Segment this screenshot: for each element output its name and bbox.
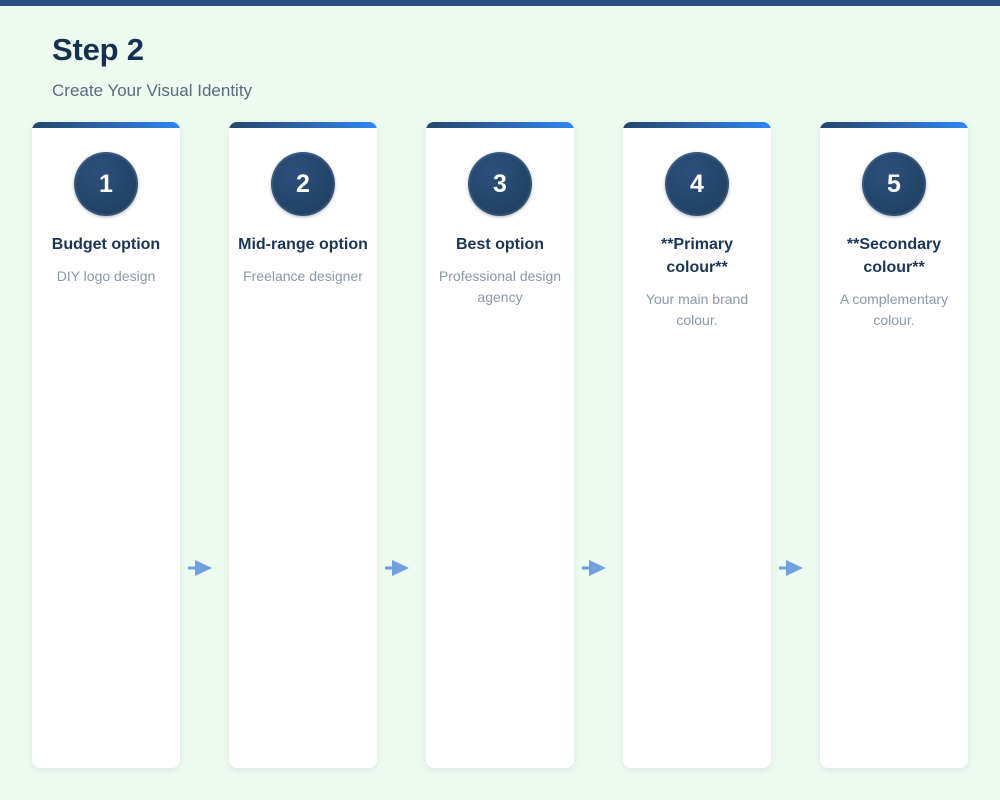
card-description: DIY logo design: [44, 266, 168, 287]
step-number: 4: [690, 172, 704, 197]
arrow-right-icon: [385, 557, 417, 579]
flow-card-2[interactable]: 2 Mid-range option Freelance designer: [229, 122, 377, 768]
card-description: Your main brand colour.: [635, 289, 759, 331]
step-badge: 2: [271, 152, 335, 216]
page-header: Step 2 Create Your Visual Identity: [52, 30, 252, 103]
page-subtitle: Create Your Visual Identity: [52, 79, 252, 103]
card-title: Mid-range option: [237, 233, 369, 256]
card-accent-bar: [820, 122, 968, 128]
page-title: Step 2: [52, 30, 252, 70]
step-number: 3: [493, 172, 507, 197]
card-accent-bar: [426, 122, 574, 128]
card-title: Budget option: [40, 233, 172, 256]
card-title: Best option: [434, 233, 566, 256]
flow-card-4[interactable]: 4 **Primary colour** Your main brand col…: [623, 122, 771, 768]
arrow-right-icon: [188, 557, 220, 579]
flow-card-5[interactable]: 5 **Secondary colour** A complementary c…: [820, 122, 968, 768]
top-accent-strip: [0, 0, 1000, 6]
arrow-right-icon: [582, 557, 614, 579]
step-number: 1: [99, 172, 113, 197]
flow-card-1[interactable]: 1 Budget option DIY logo design: [32, 122, 180, 768]
step-number: 2: [296, 172, 310, 197]
step-badge: 1: [74, 152, 138, 216]
card-accent-bar: [32, 122, 180, 128]
arrow-right-icon: [779, 557, 811, 579]
step-badge: 5: [862, 152, 926, 216]
card-accent-bar: [623, 122, 771, 128]
card-description: Professional design agency: [438, 266, 562, 308]
flow-card-3[interactable]: 3 Best option Professional design agency: [426, 122, 574, 768]
card-description: Freelance designer: [241, 266, 365, 287]
step-flow-container: 1 Budget option DIY logo design 2 Mid-ra…: [32, 122, 968, 768]
step-badge: 3: [468, 152, 532, 216]
card-title: **Secondary colour**: [828, 233, 960, 279]
card-accent-bar: [229, 122, 377, 128]
step-badge: 4: [665, 152, 729, 216]
step-number: 5: [887, 172, 901, 197]
card-title: **Primary colour**: [631, 233, 763, 279]
card-description: A complementary colour.: [832, 289, 956, 331]
